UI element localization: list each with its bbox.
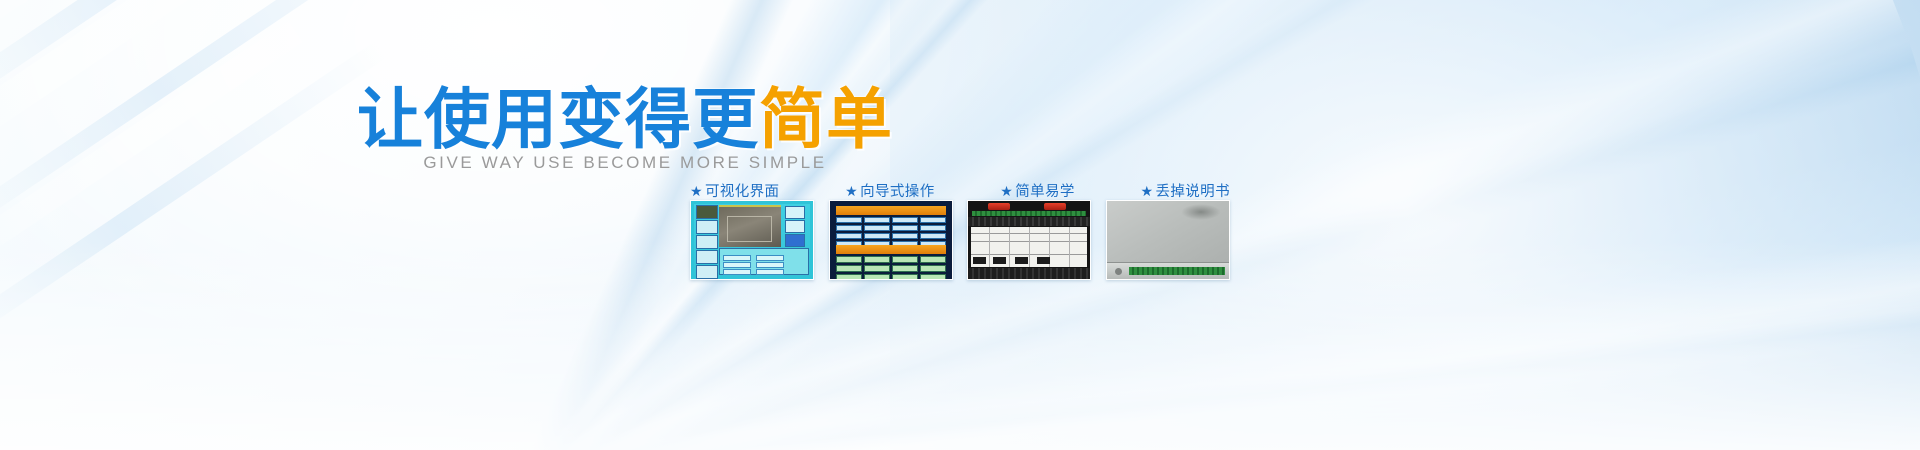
feature-label-text: 丢掉说明书: [1155, 184, 1230, 200]
feature-label-text: 向导式操作: [860, 184, 935, 200]
feature-label-wizard-operation: ★向导式操作: [845, 180, 934, 201]
feature-label-no-manual: ★丢掉说明书: [1141, 180, 1230, 201]
headline-blue-text: 让使用变得更: [357, 81, 759, 158]
hmi-touchscreen-photo: [690, 200, 814, 280]
feature-label-text: 可视化界面: [705, 184, 780, 200]
feature-label-text: 简单易学: [1015, 184, 1075, 200]
electrical-terminal-photo: [967, 200, 1091, 280]
subtitle: GIVE WAY USE BECOME MORE SIMPLE: [0, 153, 1250, 173]
star-icon: ★: [690, 184, 703, 200]
feature-label-easy-to-learn: ★简单易学: [1000, 180, 1075, 201]
promo-banner: 让使用变得更简单 GIVE WAY USE BECOME MORE SIMPLE…: [0, 0, 1920, 450]
thumbnail-gallery: [690, 200, 1230, 280]
headline: 让使用变得更简单: [0, 84, 1250, 156]
control-panel-photo: [829, 200, 953, 280]
star-icon: ★: [845, 184, 858, 200]
headline-orange-text: 简单: [759, 81, 893, 158]
feature-label-list: ★可视化界面 ★向导式操作 ★简单易学 ★丢掉说明书: [690, 180, 1230, 201]
banner-content: 让使用变得更简单 GIVE WAY USE BECOME MORE SIMPLE…: [0, 0, 1920, 450]
star-icon: ★: [1000, 184, 1013, 200]
feature-label-visual-interface: ★可视化界面: [690, 180, 779, 201]
star-icon: ★: [1141, 184, 1154, 200]
metal-enclosure-photo: [1106, 200, 1230, 280]
